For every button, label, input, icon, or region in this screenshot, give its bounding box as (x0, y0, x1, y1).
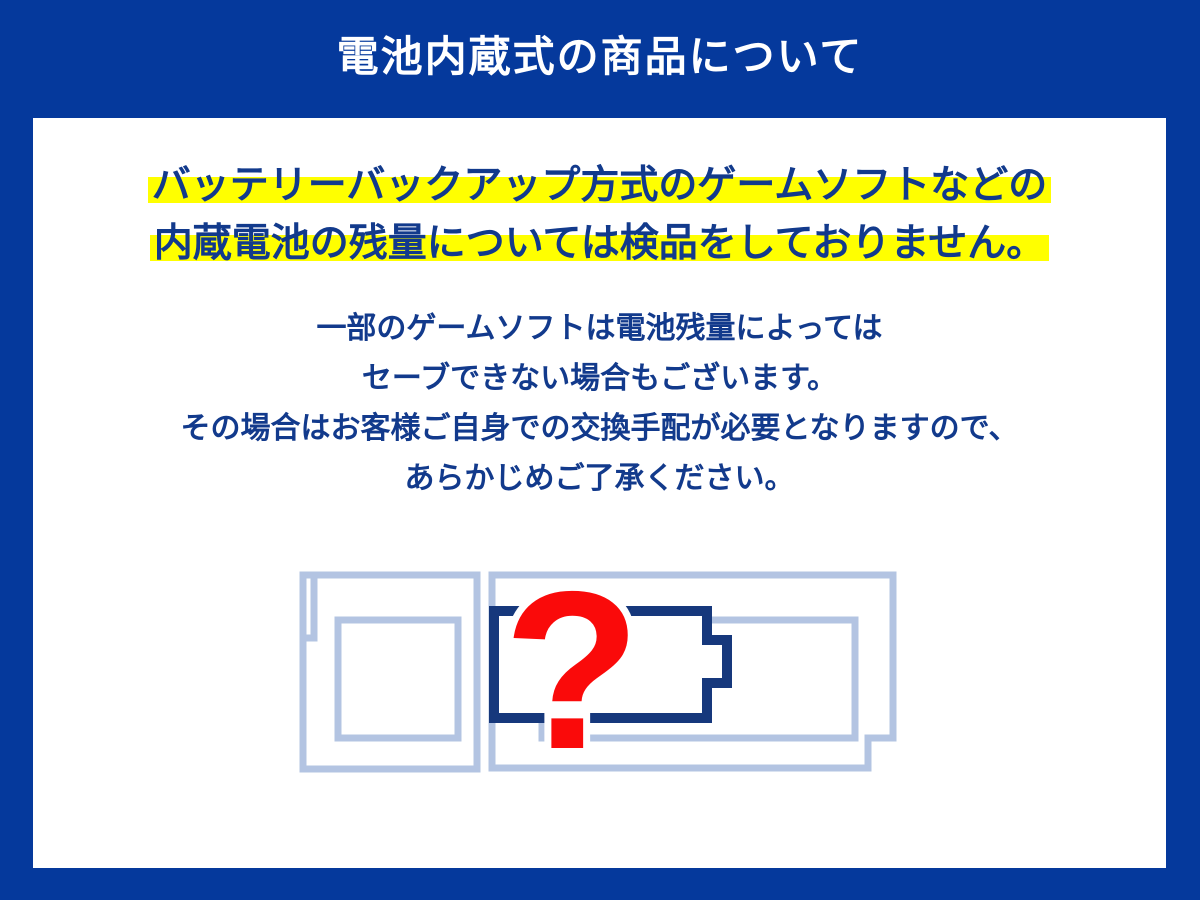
notice-body-line: セーブできない場合もございます。 (33, 364, 1166, 414)
notice-body-line: あらかじめご了承ください。 (33, 464, 1166, 514)
cartridge-battery-illustration: ? (280, 548, 920, 798)
notice-body-line: その場合はお客様ご自身での交換手配が必要となりますので、 (33, 414, 1166, 464)
highlighted-notice: バッテリーバックアップ方式のゲームソフトなどの 内蔵電池の残量については検品をし… (33, 166, 1166, 282)
highlighted-notice-text: バッテリーバックアップ方式のゲームソフトなどの (148, 166, 1051, 205)
notice-body: 一部のゲームソフトは電池残量によっては セーブできない場合もございます。 その場… (33, 314, 1166, 514)
illustration: ? (33, 548, 1166, 808)
content-card: バッテリーバックアップ方式のゲームソフトなどの 内蔵電池の残量については検品をし… (33, 118, 1166, 868)
highlighted-notice-line: バッテリーバックアップ方式のゲームソフトなどの (33, 166, 1166, 224)
poster-root: 電池内蔵式の商品について バッテリーバックアップ方式のゲームソフトなどの 内蔵電… (0, 0, 1200, 900)
question-mark-icon: ? (503, 548, 640, 796)
notice-body-line: 一部のゲームソフトは電池残量によっては (33, 314, 1166, 364)
page-title: 電池内蔵式の商品について (337, 36, 864, 78)
highlighted-notice-line: 内蔵電池の残量については検品をしておりません。 (33, 224, 1166, 282)
left-cartridge-label-icon (338, 620, 458, 738)
highlighted-notice-text: 内蔵電池の残量については検品をしておりません。 (150, 224, 1050, 263)
header-band: 電池内蔵式の商品について (0, 0, 1200, 118)
